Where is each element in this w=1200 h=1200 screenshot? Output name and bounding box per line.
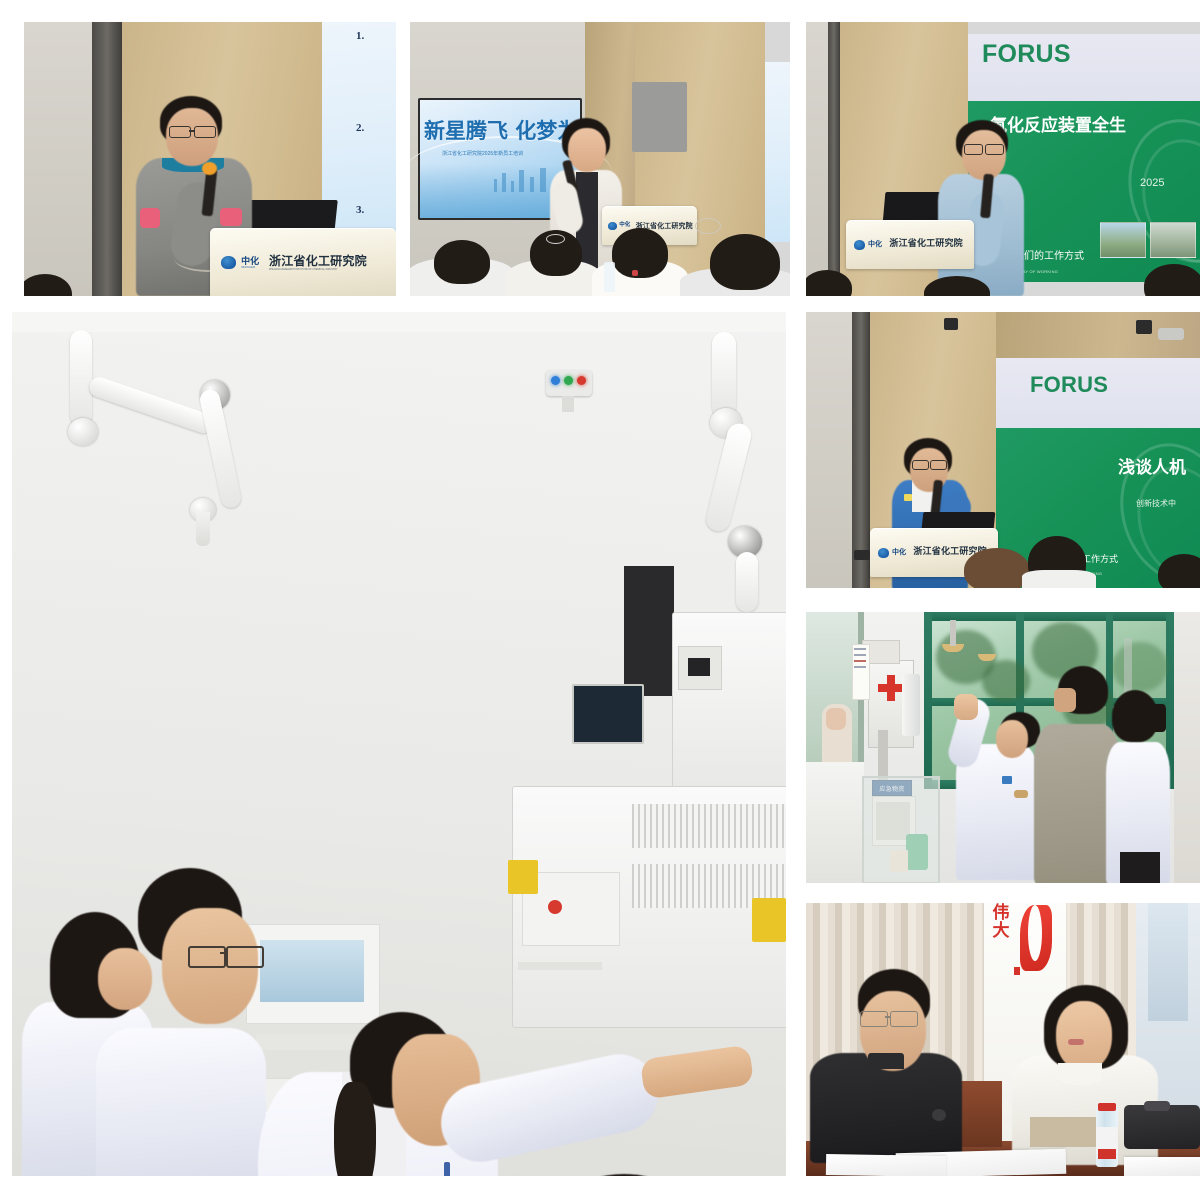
forus-logo: FORUS bbox=[1030, 374, 1108, 396]
slide-list-item-2: 2. bbox=[356, 122, 364, 134]
photo-forus-fluorination: FORUS 氟化反应装置全生 2025 安全是我们的工作方式 SAFETY IS… bbox=[806, 22, 1200, 296]
gas-detector-icon bbox=[546, 370, 592, 396]
forus-logo: FORUS bbox=[982, 42, 1071, 67]
slide-list-item-1: 1. bbox=[356, 30, 364, 42]
photo-forus-hmi: FORUS 浅谈人机 创新技术中 安全是我们的工作方式 OUR WAY OF W… bbox=[806, 312, 1200, 588]
banner-text: 伟大 bbox=[988, 905, 1014, 941]
photo-meeting-review: 伟大 bbox=[806, 903, 1200, 1176]
sinochem-logo-cn: 中化 bbox=[619, 223, 630, 229]
sinochem-logo-en: SINOCHEM bbox=[241, 267, 259, 270]
photo-female-host: 新星腾飞 化梦为真 浙江省化工研究院2025年新员工培训 中化 浙江省化工研究院 bbox=[410, 22, 790, 296]
podium: 中化 浙江省化工研究院 bbox=[846, 220, 974, 269]
sinochem-logo-cn: 中化 bbox=[868, 241, 882, 248]
slide-date: 2025 bbox=[1140, 178, 1164, 189]
forus-logo-text: FORUS bbox=[982, 42, 1071, 67]
institute-name-cn: 浙江省化工研究院 bbox=[889, 240, 962, 249]
photo-speaker-podium: 1. 2. 3. bbox=[24, 22, 396, 296]
sinochem-logo-cn: 中化 bbox=[892, 549, 906, 556]
photo-lab-instruction bbox=[12, 312, 786, 1176]
podium: 中化 SINOCHEM 浙江省化工研究院 ZHEJIANG RESEARCH I… bbox=[210, 228, 396, 296]
sinochem-logo-cn: 中化 bbox=[241, 257, 259, 266]
bag-icon bbox=[1124, 1105, 1200, 1149]
slide-list-item-3: 3. bbox=[356, 204, 364, 216]
photo-collage: 1. 2. 3. bbox=[0, 0, 1200, 1200]
eyewash-station bbox=[902, 674, 920, 736]
slide-subtitle: 创新技术中 bbox=[1136, 500, 1176, 508]
institute-name-cn: 浙江省化工研究院 bbox=[269, 255, 367, 267]
institute-name-en: ZHEJIANG RESEARCH INSTITUTE OF CHEMICAL … bbox=[269, 269, 367, 271]
projector-screen: FORUS 浅谈人机 创新技术中 安全是我们的工作方式 OUR WAY OF W… bbox=[996, 358, 1200, 588]
emergency-stop-button bbox=[548, 900, 562, 914]
slide-subtitle: 浙江省化工研究院2025年新员工培训 bbox=[442, 152, 523, 157]
slide-title: 浅谈人机 bbox=[1118, 460, 1186, 477]
slide-title: 氟化反应装置全生 bbox=[990, 118, 1126, 135]
forus-logo-text: FORUS bbox=[1030, 374, 1108, 396]
photo-safety-shower: 应急物资 bbox=[806, 612, 1200, 883]
